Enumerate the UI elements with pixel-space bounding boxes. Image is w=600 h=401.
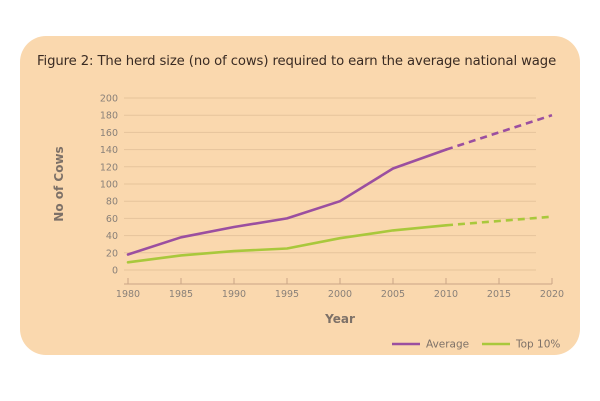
x-axis-tick-labels: 1980 1985 1990 1995 2000 2005 2010 2015 …	[116, 289, 564, 300]
x-tick-label-1980: 1980	[116, 289, 140, 300]
y-tick-60: 60	[106, 214, 118, 225]
x-axis-title: Year	[324, 312, 355, 326]
series-line-top10-solid	[128, 225, 446, 262]
x-tick-label-1995: 1995	[275, 289, 299, 300]
y-tick-120: 120	[100, 162, 118, 173]
x-tick-label-2010: 2010	[434, 289, 458, 300]
x-tick-label-2005: 2005	[381, 289, 405, 300]
y-tick-160: 160	[100, 128, 118, 139]
series-line-average-solid	[128, 150, 446, 255]
legend-label-average: Average	[426, 339, 469, 351]
x-tick-label-2000: 2000	[328, 289, 352, 300]
x-tick-label-2020: 2020	[540, 289, 564, 300]
x-tick-label-1985: 1985	[169, 289, 193, 300]
figure-card: Figure 2: The herd size (no of cows) req…	[20, 36, 580, 355]
y-tick-20: 20	[106, 248, 118, 259]
line-chart: 200 180 160 140 120 100 80 60 40 20 0 No…	[20, 36, 580, 355]
x-tick-label-1990: 1990	[222, 289, 246, 300]
y-tick-80: 80	[106, 197, 118, 208]
gridlines	[124, 98, 536, 270]
x-tick-label-2015: 2015	[487, 289, 511, 300]
chart-area: 200 180 160 140 120 100 80 60 40 20 0 No…	[20, 36, 580, 355]
y-tick-40: 40	[106, 231, 118, 242]
x-axis-ticks	[128, 278, 552, 284]
y-tick-200: 200	[100, 94, 118, 105]
y-tick-140: 140	[100, 145, 118, 156]
legend-label-top10: Top 10%	[515, 339, 560, 351]
y-tick-180: 180	[100, 111, 118, 122]
y-axis-tick-labels: 200 180 160 140 120 100 80 60 40 20 0	[100, 94, 118, 277]
chart-legend: Average Top 10%	[392, 339, 560, 351]
y-tick-0: 0	[112, 266, 118, 277]
y-axis-title: No of Cows	[52, 146, 66, 221]
y-tick-100: 100	[100, 180, 118, 191]
